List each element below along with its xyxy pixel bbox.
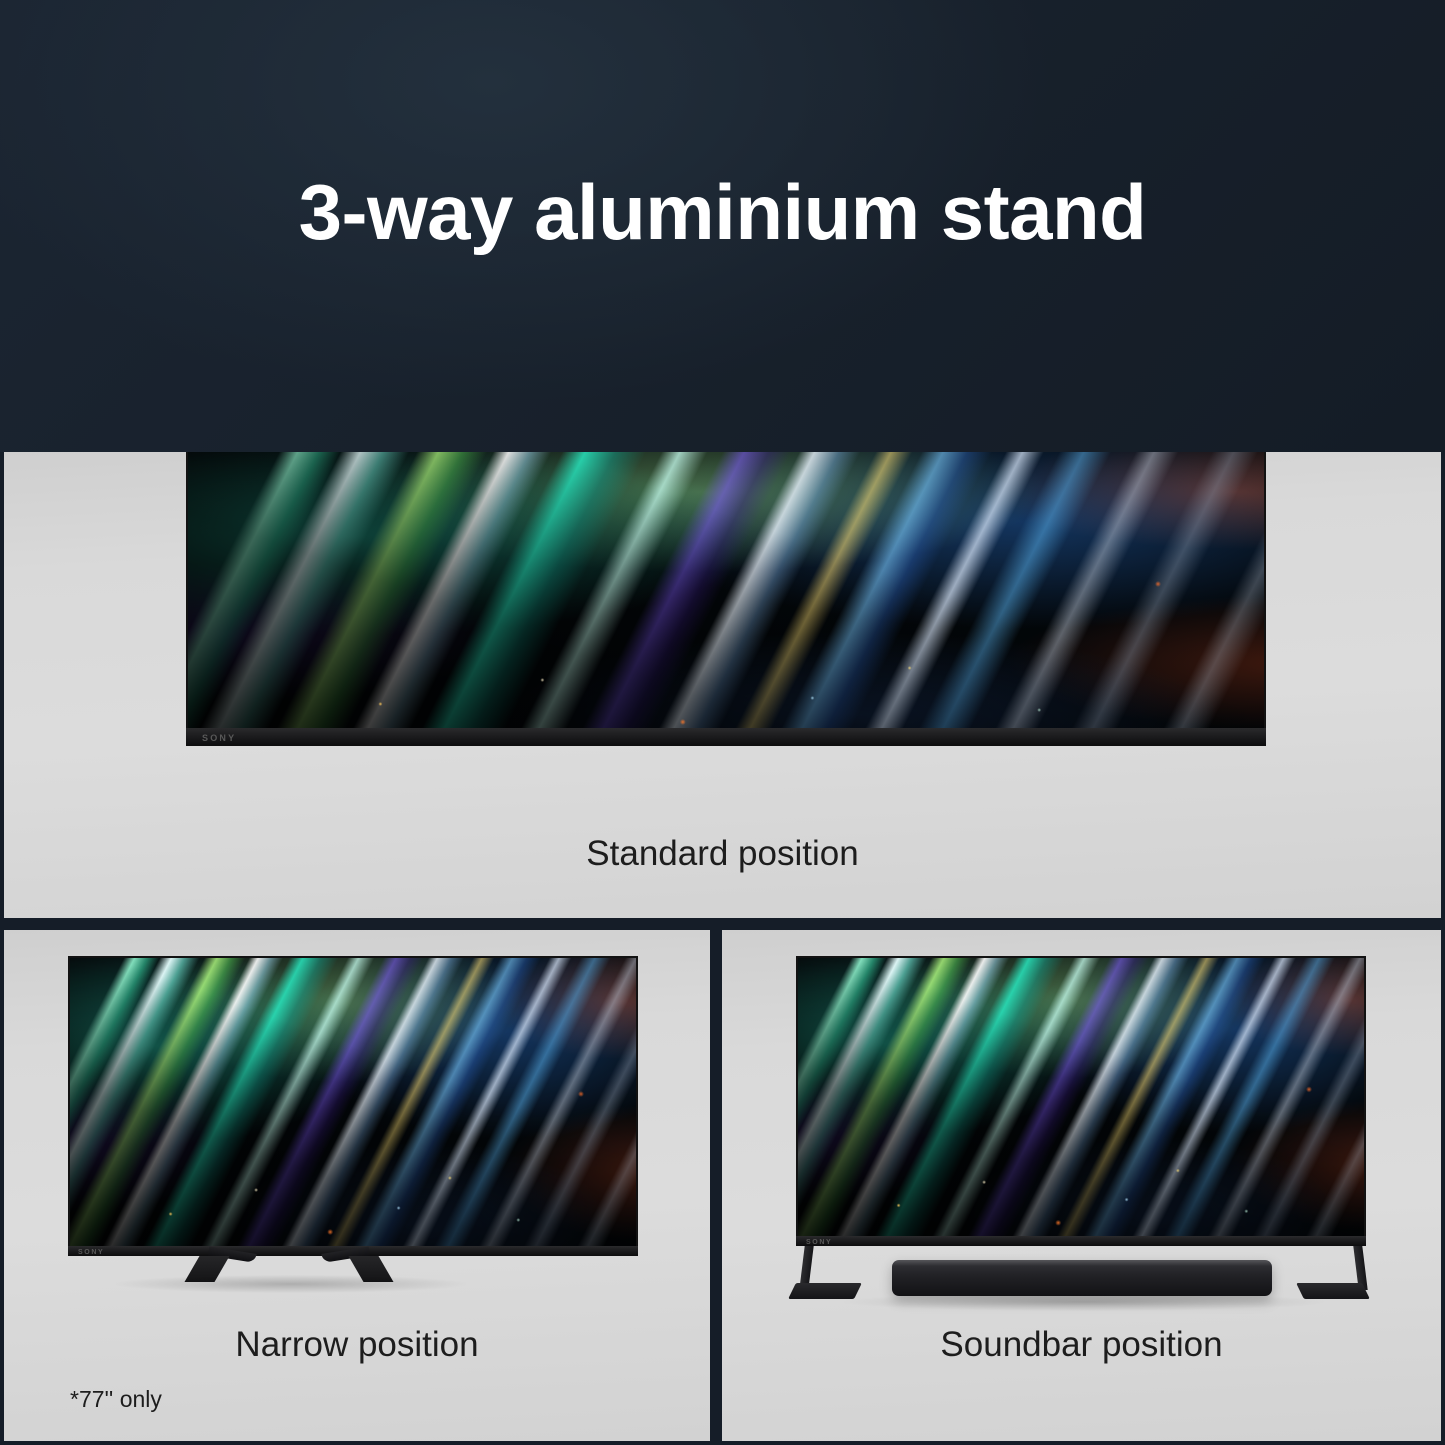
tv-standard: SONY: [186, 452, 1266, 746]
tv-soundbar: SONY: [796, 956, 1366, 1246]
panel-narrow-position: SONY Narrow position *77'' only: [4, 930, 710, 1441]
screen-artwork-sparkles: [186, 452, 1266, 746]
screen-artwork-sparkles: [68, 956, 638, 1256]
frame-edge-bottom: [0, 1441, 1445, 1445]
tv-narrow: SONY: [68, 956, 638, 1256]
caption-standard-position: Standard position: [4, 834, 1441, 874]
divider-horizontal: [0, 918, 1445, 930]
tv-chin-standard: SONY: [186, 728, 1266, 746]
soundbar-highlight: [892, 1260, 1272, 1266]
page-title: 3-way aluminium stand: [0, 172, 1445, 254]
tv-screen-soundbar: [796, 956, 1366, 1246]
panel-soundbar-position: SONY Soundbar position: [722, 930, 1441, 1441]
tv-screen-standard: [186, 452, 1266, 746]
tv-shadow-soundbar: [844, 1293, 1324, 1311]
frame-edge-right: [1441, 452, 1445, 1445]
caption-narrow-position: Narrow position: [4, 1325, 710, 1365]
sony-logo: SONY: [806, 1239, 832, 1246]
caption-soundbar-position: Soundbar position: [722, 1325, 1441, 1365]
tv-shadow-narrow: [116, 1275, 466, 1293]
soundbar-device: [892, 1260, 1272, 1296]
divider-vertical: [710, 918, 722, 1445]
tv-chin-soundbar: SONY: [796, 1236, 1366, 1246]
panels-container: SONY Standard position SONY: [0, 452, 1445, 1445]
hero-band: 3-way aluminium stand: [0, 0, 1445, 452]
panel-standard-position: SONY Standard position: [4, 452, 1441, 918]
product-feature-page: 3-way aluminium stand SONY Standa: [0, 0, 1445, 1445]
footnote-size-restriction: *77'' only: [70, 1386, 162, 1413]
screen-artwork-sparkles: [796, 956, 1366, 1246]
frame-edge-left: [0, 452, 4, 1445]
tv-screen-narrow: [68, 956, 638, 1256]
sony-logo: SONY: [78, 1249, 104, 1256]
sony-logo: SONY: [202, 733, 236, 743]
